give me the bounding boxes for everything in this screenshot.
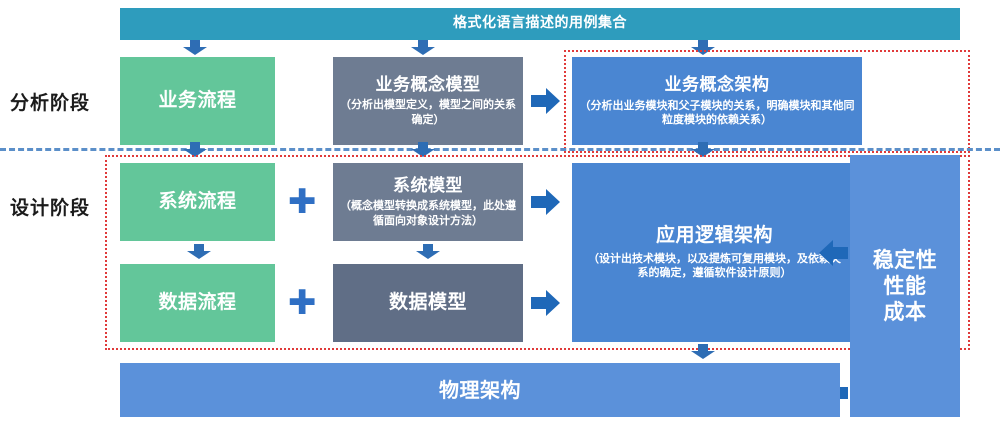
data-flow-box[interactable]: 数据流程	[120, 264, 275, 342]
phase-label-design: 设计阶段	[10, 193, 90, 220]
arrow-right-icon	[531, 86, 561, 116]
quality-line-stability: 稳定性	[873, 247, 938, 273]
business-flow-box[interactable]: 业务流程	[120, 57, 275, 145]
plus-glyph: ✚	[288, 283, 317, 323]
app-logic-architecture-title: 应用逻辑架构	[656, 224, 773, 248]
arrow-down-icon	[182, 40, 208, 56]
plus-glyph: ✚	[288, 182, 317, 222]
system-flow-box[interactable]: 系统流程	[120, 163, 275, 241]
phase-label-analysis: 分析阶段	[10, 88, 90, 115]
business-concept-architecture-box[interactable]: 业务概念架构 （分析出业务模块和父子模块的关系，明确模块和其他同粒度模块的依赖关…	[572, 57, 862, 145]
diagram-canvas: 格式化语言描述的用例集合 分析阶段 设计阶段 业务流程 业务概念模型 （分析出模…	[0, 0, 1000, 426]
arrow-down-icon	[690, 40, 716, 56]
arrow-down-icon	[182, 142, 208, 158]
quality-attributes-column[interactable]: 稳定性 性能 成本	[850, 155, 960, 417]
arrow-down-icon	[690, 344, 716, 360]
business-concept-model-subtitle: （分析出模型定义，模型之间的关系确定）	[339, 98, 517, 127]
bottom-bar-physical-architecture[interactable]: 物理架构	[120, 363, 840, 417]
plus-icon-data: ✚	[288, 286, 317, 320]
data-model-title: 数据模型	[389, 291, 467, 315]
system-model-box[interactable]: 系统模型 （概念模型转换成系统模型，此处遵循面向对象设计方法）	[333, 163, 523, 241]
system-model-subtitle: （概念模型转换成系统模型，此处遵循面向对象设计方法）	[339, 199, 517, 228]
app-logic-architecture-subtitle: （设计出技术模块，以及提炼可复用模块，及依赖关系的确定，遵循软件设计原则）	[578, 252, 851, 281]
arrow-left-icon	[818, 238, 848, 268]
plus-icon-system: ✚	[288, 185, 317, 219]
business-concept-architecture-subtitle: （分析出业务模块和父子模块的关系，明确模块和其他同粒度模块的依赖关系）	[578, 99, 856, 128]
business-concept-model-title: 业务概念模型	[376, 75, 481, 96]
business-concept-model-box[interactable]: 业务概念模型 （分析出模型定义，模型之间的关系确定）	[333, 57, 523, 145]
system-flow-label: 系统流程	[158, 190, 236, 214]
data-model-box[interactable]: 数据模型	[333, 264, 523, 342]
business-flow-label: 业务流程	[158, 89, 236, 113]
arrow-down-icon	[410, 40, 436, 56]
app-logic-architecture-box[interactable]: 应用逻辑架构 （设计出技术模块，以及提炼可复用模块，及依赖关系的确定，遵循软件设…	[572, 163, 857, 342]
quality-line-cost: 成本	[884, 299, 927, 325]
system-model-title: 系统模型	[393, 176, 463, 197]
bottom-bar-label: 物理架构	[439, 378, 521, 403]
arrow-down-icon	[415, 244, 441, 260]
arrow-right-icon	[531, 187, 561, 217]
arrow-right-icon	[531, 288, 561, 318]
arrow-down-icon	[410, 142, 436, 158]
business-concept-architecture-title: 业务概念架构	[665, 75, 770, 96]
top-bar-label: 格式化语言描述的用例集合	[453, 15, 627, 33]
data-flow-label: 数据流程	[158, 291, 236, 315]
arrow-down-icon	[690, 142, 716, 158]
top-bar-use-case-set[interactable]: 格式化语言描述的用例集合	[120, 8, 960, 40]
phase-divider	[0, 148, 1000, 151]
arrow-down-icon	[186, 244, 212, 260]
quality-line-performance: 性能	[884, 273, 927, 299]
